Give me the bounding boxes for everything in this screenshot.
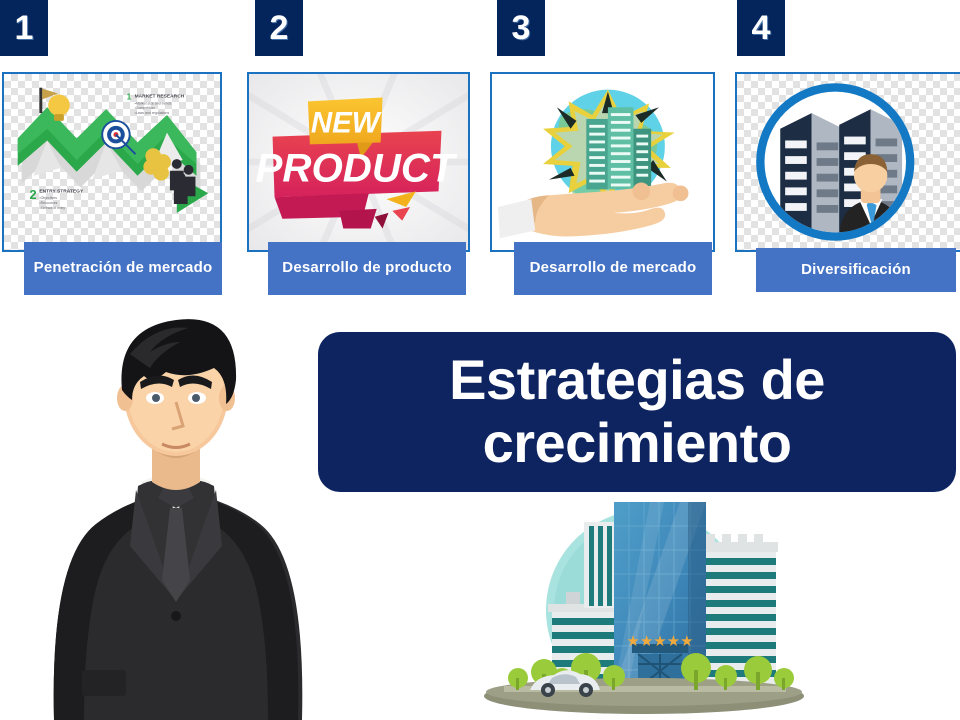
strategy-label-3[interactable]: Desarrollo de mercado: [514, 242, 712, 295]
strategy-card-3[interactable]: [490, 72, 715, 252]
step-number-2: 2: [270, 11, 289, 45]
strategy-card-2[interactable]: NEW PRODUCT: [247, 72, 470, 252]
slide-canvas: 1 2 3 4: [0, 0, 960, 720]
step-number-4: 4: [752, 11, 771, 45]
svg-text:•Market size and trends: •Market size and trends: [135, 101, 172, 105]
step-number-badge-4: 4: [737, 0, 785, 56]
new-product-banner-illustration: NEW PRODUCT: [249, 74, 468, 250]
strategy-label-2[interactable]: Desarrollo de producto: [268, 242, 466, 295]
hotel-star-rating: ★★★★★: [626, 633, 693, 650]
step-number-3: 3: [512, 11, 531, 45]
svg-text:1: 1: [127, 92, 132, 101]
svg-text:•Laws and regulations: •Laws and regulations: [135, 111, 170, 115]
strategy-label-1[interactable]: Penetración de mercado: [24, 242, 222, 295]
businessman-graphic: [18, 298, 334, 720]
strategy-label-4-text: Diversificación: [801, 261, 911, 280]
strategy-label-3-text: Desarrollo de mercado: [530, 259, 697, 278]
businessman-buildings-circle-icon: [737, 74, 960, 250]
main-title-line-1: Estrategias de: [449, 348, 825, 411]
main-title-banner: Estrategias de crecimiento: [318, 332, 956, 492]
svg-text:•Objectives: •Objectives: [39, 196, 57, 200]
strategy-label-1-text: Penetración de mercado: [34, 259, 213, 278]
step-number-badge-1: 1: [0, 0, 48, 56]
strategy-card-1[interactable]: 1 MARKET RESEARCH •Market size and trend…: [2, 72, 222, 252]
strategy-card-4[interactable]: [735, 72, 960, 252]
step-number-badge-2: 2: [255, 0, 303, 56]
market-research-steps-illustration: 1 MARKET RESEARCH •Market size and trend…: [4, 74, 220, 250]
svg-text:ENTRY STRATEGY: ENTRY STRATEGY: [39, 188, 84, 194]
svg-text:•Method of entry: •Method of entry: [39, 206, 65, 210]
strategy-label-2-text: Desarrollo de producto: [282, 259, 451, 278]
step-number-1: 1: [15, 11, 34, 45]
strategy-label-4[interactable]: Diversificación: [756, 248, 956, 292]
globe-hand-graphic: [492, 74, 713, 250]
svg-text:PRODUCT: PRODUCT: [256, 146, 458, 191]
diversification-icon-graphic: [737, 74, 960, 250]
svg-text:MARKET RESEARCH: MARKET RESEARCH: [135, 93, 185, 99]
main-title-line-2: crecimiento: [483, 411, 792, 474]
new-product-graphic: NEW PRODUCT: [249, 74, 468, 250]
hand-holding-globe-city-illustration: [492, 74, 713, 250]
svg-text:2: 2: [30, 187, 37, 202]
svg-text:•Competition: •Competition: [135, 106, 155, 110]
steps-arrow-graphic: 1 MARKET RESEARCH •Market size and trend…: [4, 74, 220, 250]
svg-text:NEW: NEW: [311, 107, 382, 140]
main-title-text: Estrategias de crecimiento: [421, 349, 853, 474]
svg-text:•Resources: •Resources: [39, 201, 57, 205]
step-number-badge-3: 3: [497, 0, 545, 56]
city-hotel-buildings-illustration: ★★★★★: [474, 492, 814, 720]
businessman-in-suit-illustration: [18, 298, 334, 720]
city-graphic: ★★★★★: [474, 492, 814, 720]
